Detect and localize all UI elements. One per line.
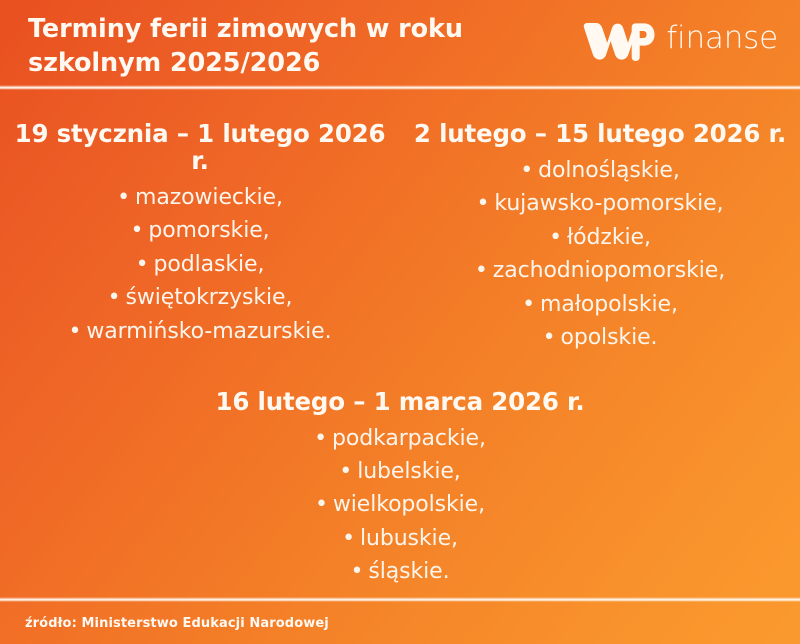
list-item: •pomorskie,: [6, 214, 394, 247]
list-item-label: podlaskie,: [154, 252, 265, 277]
list-item: •łódzkie,: [406, 221, 794, 254]
list-item: •lubuskie,: [6, 522, 794, 555]
list-item-label: dolnośląskie,: [538, 158, 680, 183]
date-group-2-heading: 2 lutego – 15 lutego 2026 r.: [406, 121, 794, 148]
infographic-canvas: Terminy ferii zimowych w roku szkolnym 2…: [0, 0, 800, 644]
bullet-icon: •: [342, 522, 355, 555]
list-item: •podkarpackie,: [6, 422, 794, 455]
brand-logo: finanse: [583, 17, 778, 62]
list-item: •kujawsko-pomorskie,: [406, 187, 794, 220]
list-item-label: lubuskie,: [360, 526, 458, 551]
bullet-icon: •: [476, 187, 489, 220]
list-item: •lubelskie,: [6, 455, 794, 488]
source-label: źródło: Ministerstwo Edukacji Narodowej: [25, 616, 329, 631]
list-item-label: podkarpackie,: [332, 426, 486, 451]
list-item-label: małopolskie,: [540, 292, 678, 317]
bullet-icon: •: [130, 214, 143, 247]
list-item: •zachodniopomorskie,: [406, 254, 794, 287]
bullet-icon: •: [108, 281, 121, 314]
list-item: •śląskie.: [6, 555, 794, 588]
bullet-icon: •: [339, 455, 352, 488]
bullet-icon: •: [117, 181, 130, 214]
list-item: •wielkopolskie,: [6, 488, 794, 521]
list-item-label: śląskie.: [368, 559, 449, 584]
date-group-1-heading: 19 stycznia – 1 lutego 2026 r.: [6, 121, 394, 175]
list-item-label: warmińsko-mazurskie.: [86, 319, 331, 344]
date-group-1: 19 stycznia – 1 lutego 2026 r. •mazowiec…: [0, 121, 400, 355]
page-title: Terminy ferii zimowych w roku szkolnym 2…: [28, 13, 463, 81]
bullet-icon: •: [314, 422, 327, 455]
bullet-icon: •: [351, 555, 364, 588]
list-item-label: łódzkie,: [567, 225, 651, 250]
list-item-label: zachodniopomorskie,: [493, 258, 725, 283]
bullet-icon: •: [68, 315, 81, 348]
header: Terminy ferii zimowych w roku szkolnym 2…: [0, 0, 800, 86]
list-item-label: lubelskie,: [357, 459, 461, 484]
bullet-icon: •: [315, 488, 328, 521]
wp-logo-icon: [583, 17, 655, 62]
list-item: •dolnośląskie,: [406, 154, 794, 187]
list-item-label: pomorskie,: [148, 218, 269, 243]
brand-name: finanse: [666, 23, 778, 57]
bullet-icon: •: [475, 254, 488, 287]
footer: źródło: Ministerstwo Edukacji Narodowej: [0, 602, 800, 644]
date-group-3-heading: 16 lutego – 1 marca 2026 r.: [6, 389, 794, 416]
list-item-label: mazowieckie,: [135, 185, 283, 210]
list-item: •świętokrzyskie,: [6, 281, 394, 314]
bullet-icon: •: [522, 288, 535, 321]
bullet-icon: •: [136, 248, 149, 281]
list-item: •małopolskie,: [406, 288, 794, 321]
list-item: •warmińsko-mazurskie.: [6, 315, 394, 348]
content-area: 19 stycznia – 1 lutego 2026 r. •mazowiec…: [0, 90, 800, 597]
list-item-label: świętokrzyskie,: [126, 285, 293, 310]
date-group-1-list: •mazowieckie, •pomorskie, •podlaskie, •ś…: [6, 181, 394, 348]
date-groups-row-top: 19 stycznia – 1 lutego 2026 r. •mazowiec…: [0, 121, 800, 355]
date-group-3-list: •podkarpackie, •lubelskie, •wielkopolski…: [6, 422, 794, 589]
list-item-label: opolskie.: [560, 325, 657, 350]
bullet-icon: •: [549, 221, 562, 254]
bullet-icon: •: [520, 154, 533, 187]
date-group-3: 16 lutego – 1 marca 2026 r. •podkarpacki…: [0, 389, 800, 589]
list-item: •mazowieckie,: [6, 181, 394, 214]
list-item-label: kujawsko-pomorskie,: [494, 191, 723, 216]
list-item: •podlaskie,: [6, 248, 394, 281]
bullet-icon: •: [543, 321, 556, 354]
date-group-2-list: •dolnośląskie, •kujawsko-pomorskie, •łód…: [406, 154, 794, 355]
list-item-label: wielkopolskie,: [333, 492, 485, 517]
date-group-2: 2 lutego – 15 lutego 2026 r. •dolnośląsk…: [400, 121, 800, 355]
list-item: •opolskie.: [406, 321, 794, 354]
